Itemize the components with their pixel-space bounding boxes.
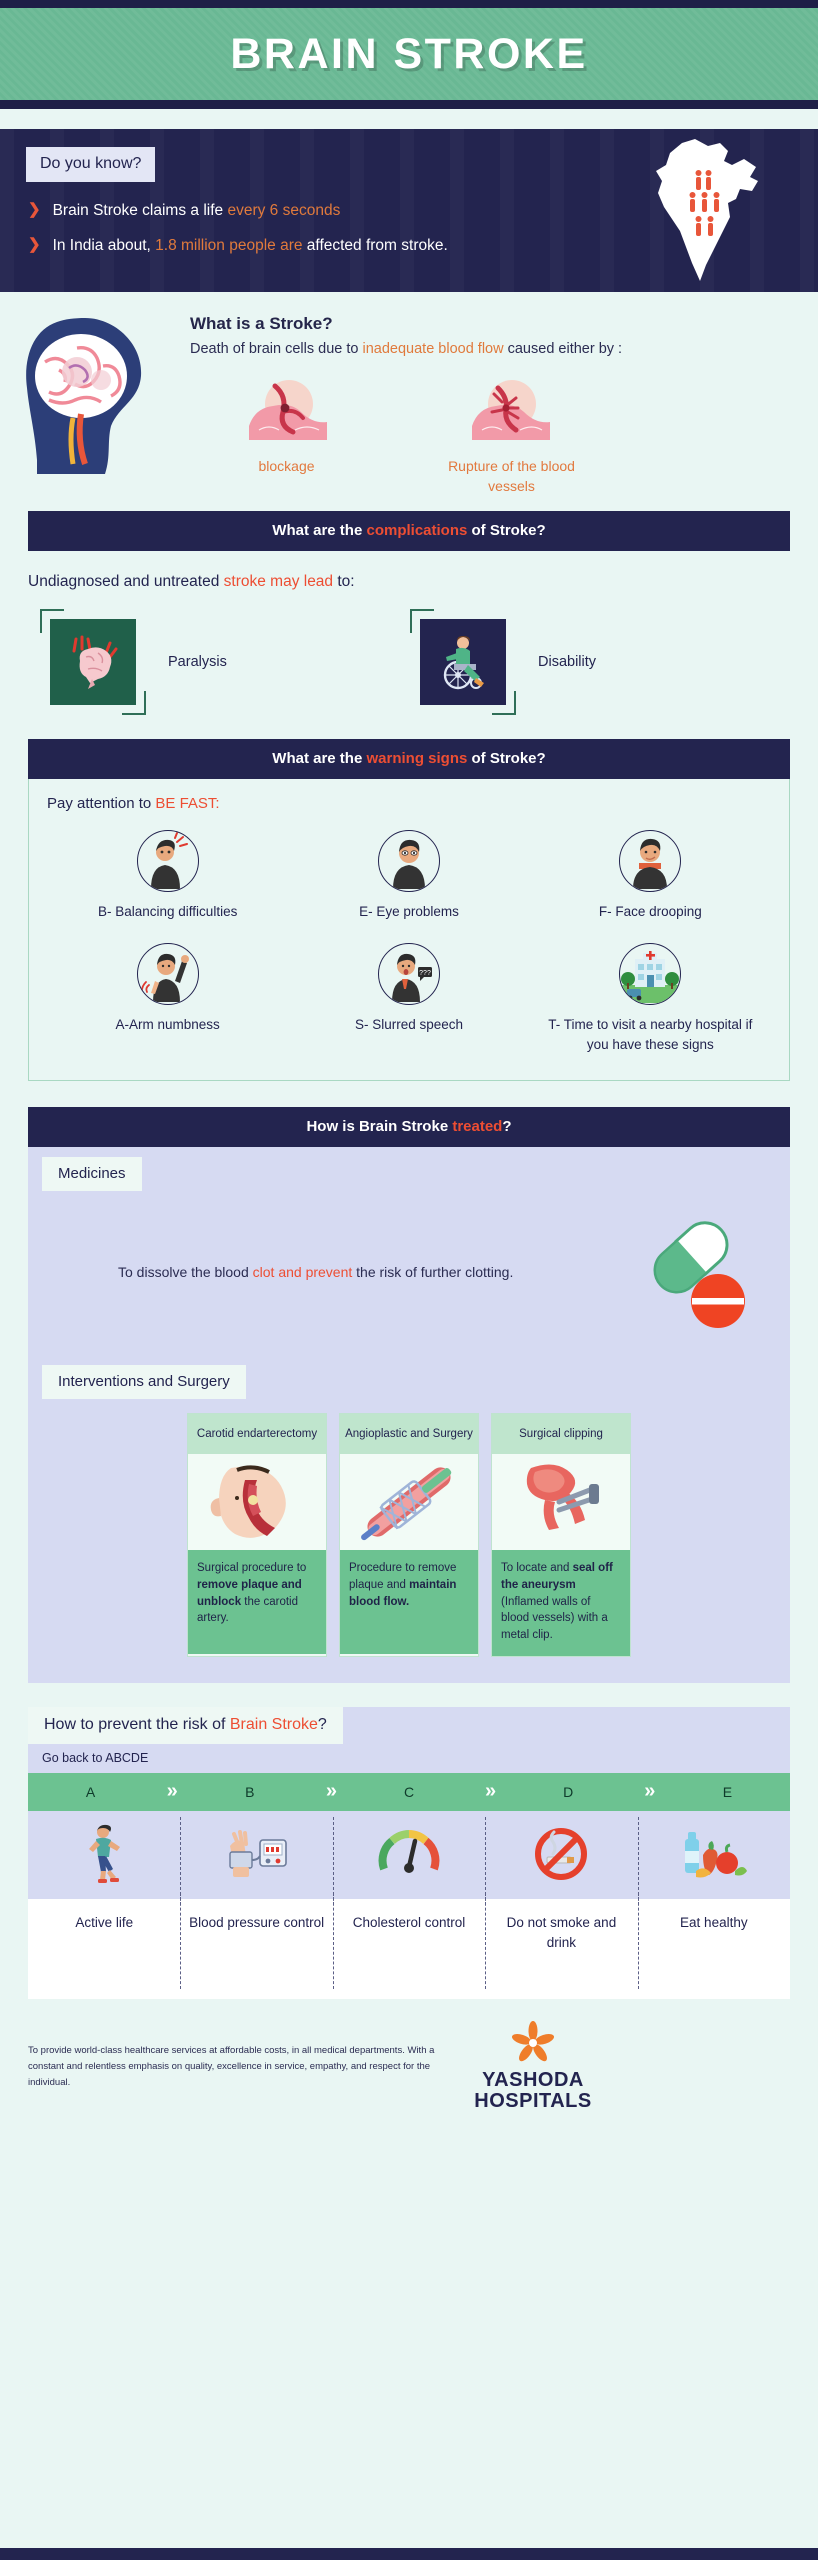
angioplasty-stent-icon	[340, 1454, 478, 1550]
do-you-know-panel: Do you know? ❯ Brain Stroke claims a lif…	[0, 129, 818, 292]
surgery-card-title: Carotid endarterectomy	[188, 1414, 326, 1454]
chevron-double-right-icon: »	[153, 1780, 187, 1803]
surgery-card-title: Surgical clipping	[492, 1414, 630, 1454]
warning-sign-b: B- Balancing difficulties	[47, 818, 288, 926]
do-you-know-tag: Do you know?	[26, 147, 155, 182]
person-dizzy-icon	[137, 830, 199, 892]
prevention-label: Do not smoke and drink	[485, 1899, 637, 1999]
chevron-right-icon: ❯	[28, 235, 41, 255]
prevention-panel: How to prevent the risk of Brain Stroke?…	[28, 1707, 790, 1999]
complications-row: Paralysis	[0, 609, 818, 715]
cause-rupture: Rupture of the blood vessels	[429, 378, 594, 496]
prevention-title: How to prevent the risk of Brain Stroke?	[28, 1707, 343, 1744]
medicines-row: To dissolve the blood clot and prevent t…	[28, 1191, 790, 1355]
surgery-card: Surgical clipping To locate and seal off…	[491, 1413, 631, 1656]
warning-sign-s: ??? S- Slurred speech	[288, 931, 529, 1058]
prevention-label: Blood pressure control	[180, 1899, 332, 1999]
running-person-icon	[28, 1811, 180, 1899]
brand-name-line1: YASHODA	[458, 2070, 608, 2090]
chevron-double-right-icon: »	[312, 1780, 346, 1803]
abcde-progress-bar: A » B » C » D » E	[28, 1773, 790, 1811]
surgery-cards-row: Carotid endarterectomy Surgical procedur…	[28, 1399, 790, 1678]
cause-label: Rupture of the blood vessels	[429, 457, 594, 496]
header-gap	[0, 109, 818, 129]
person-arm-raised-icon	[137, 943, 199, 1005]
prevention-label: Active life	[28, 1899, 180, 1999]
interventions-chip: Interventions and Surgery	[42, 1365, 246, 1399]
prevention-labels-row: Active life Blood pressure control Chole…	[28, 1899, 790, 1999]
header-bottom-rule	[0, 100, 818, 109]
warning-signs-lead: Pay attention to BE FAST:	[47, 795, 771, 812]
cause-blockage: blockage	[204, 378, 369, 496]
warning-signs-grid: B- Balancing difficulties E- Eye problem…	[47, 818, 771, 1059]
complications-lead: Undiagnosed and untreated stroke may lea…	[28, 573, 818, 591]
healthy-food-icon	[638, 1811, 790, 1899]
footer: To provide world-class healthcare servic…	[0, 1999, 818, 2127]
warning-sign-label: S- Slurred speech	[294, 1015, 523, 1035]
what-is-stroke-title: What is a Stroke?	[190, 314, 798, 334]
page-title: BRAIN STROKE	[230, 30, 587, 79]
prevention-subtitle: Go back to ABCDE	[28, 1744, 790, 1773]
warning-signs-box: Pay attention to BE FAST: B- Balancing d…	[28, 779, 790, 1082]
fact-text: Brain Stroke claims a life every 6 secon…	[53, 200, 341, 222]
brand-name-line2: HOSPITALS	[458, 2090, 608, 2113]
surgery-card-description: To locate and seal off the aneurysm (Inf…	[492, 1550, 630, 1655]
top-rule	[0, 0, 818, 8]
brain-blockage-icon	[204, 378, 369, 449]
bottom-rule	[0, 2548, 818, 2560]
india-map-icon	[640, 137, 770, 292]
complication-paralysis: Paralysis	[40, 609, 410, 715]
abcde-letter-e: E	[665, 1784, 790, 1800]
brain-rupture-icon	[429, 378, 594, 449]
prevention-label: Cholesterol control	[333, 1899, 485, 1999]
carotid-artery-icon	[188, 1454, 326, 1550]
surgery-card-description: Surgical procedure to remove plaque and …	[188, 1550, 326, 1654]
surgery-card: Carotid endarterectomy Surgical procedur…	[187, 1413, 327, 1656]
warning-sign-label: T- Time to visit a nearby hospital if yo…	[536, 1015, 765, 1054]
complication-label: Paralysis	[168, 654, 227, 670]
surgery-card-title: Angioplastic and Surgery	[340, 1414, 478, 1454]
hospital-icon	[619, 943, 681, 1005]
prevention-gap	[0, 1683, 818, 1707]
warning-sign-label: F- Face drooping	[536, 902, 765, 922]
complications-bar: What are the complications of Stroke?	[28, 511, 790, 551]
person-eye-icon	[378, 830, 440, 892]
yashoda-flower-logo-icon	[458, 2021, 608, 2070]
treatment-panel: Medicines To dissolve the blood clot and…	[28, 1147, 790, 1682]
chevron-double-right-icon: »	[631, 1780, 665, 1803]
blood-pressure-monitor-icon	[180, 1811, 332, 1899]
warning-sign-f: F- Face drooping	[530, 818, 771, 926]
prevention-icons-row	[28, 1811, 790, 1899]
warning-sign-label: E- Eye problems	[294, 902, 523, 922]
surgery-card: Angioplastic and Surgery	[339, 1413, 479, 1656]
person-speech-icon: ???	[378, 943, 440, 1005]
svg-text:???: ???	[419, 970, 431, 977]
complications-bar-wrap: What are the complications of Stroke?	[0, 511, 818, 551]
capsule-pill-icon	[620, 1213, 770, 1331]
fact-text: In India about, 1.8 million people are a…	[53, 235, 448, 257]
medicines-text: To dissolve the blood clot and prevent t…	[48, 1261, 620, 1283]
warning-sign-e: E- Eye problems	[288, 818, 529, 926]
treatment-bar-wrap: How is Brain Stroke treated?	[0, 1107, 818, 1147]
brain-pain-icon	[50, 619, 136, 705]
what-is-stroke-description: Death of brain cells due to inadequate b…	[190, 338, 630, 360]
wheelchair-icon	[420, 619, 506, 705]
header-band: BRAIN STROKE	[0, 8, 818, 100]
surgery-card-description: Procedure to remove plaque and maintain …	[340, 1550, 478, 1654]
chevron-right-icon: ❯	[28, 200, 41, 220]
no-smoking-drinking-icon	[485, 1811, 637, 1899]
infographic-page: BRAIN STROKE Do you know? ❯ Brain Stroke…	[0, 0, 818, 2560]
brand-logo: YASHODA HOSPITALS	[458, 2021, 608, 2113]
abcde-letter-b: B	[187, 1784, 312, 1800]
warning-sign-label: A-Arm numbness	[53, 1015, 282, 1035]
cholesterol-gauge-icon	[333, 1811, 485, 1899]
warning-sign-t: T- Time to visit a nearby hospital if yo…	[530, 931, 771, 1058]
prevention-label: Eat healthy	[638, 1899, 790, 1999]
what-is-stroke-section: What is a Stroke? Death of brain cells d…	[0, 292, 818, 511]
abcde-letter-c: C	[346, 1784, 471, 1800]
footer-mission-text: To provide world-class healthcare servic…	[28, 2043, 458, 2090]
stroke-causes-row: blockage	[190, 378, 798, 496]
abcde-letter-a: A	[28, 1784, 153, 1800]
person-face-droop-icon	[619, 830, 681, 892]
treatment-bar: How is Brain Stroke treated?	[28, 1107, 790, 1147]
aneurysm-clip-icon	[492, 1454, 630, 1550]
warning-sign-label: B- Balancing difficulties	[53, 902, 282, 922]
head-brain-icon	[0, 314, 190, 497]
warning-sign-a: A-Arm numbness	[47, 931, 288, 1058]
warning-signs-bar: What are the warning signs of Stroke?	[28, 739, 790, 779]
corner-bracket	[410, 609, 516, 715]
corner-bracket	[40, 609, 146, 715]
complication-label: Disability	[538, 654, 596, 670]
warning-bar-wrap: What are the warning signs of Stroke?	[0, 739, 818, 779]
medicines-chip: Medicines	[42, 1157, 142, 1191]
what-is-stroke-body: What is a Stroke? Death of brain cells d…	[190, 314, 818, 497]
abcde-letter-d: D	[506, 1784, 631, 1800]
complication-disability: Disability	[410, 609, 780, 715]
cause-label: blockage	[204, 457, 369, 477]
chevron-double-right-icon: »	[472, 1780, 506, 1803]
